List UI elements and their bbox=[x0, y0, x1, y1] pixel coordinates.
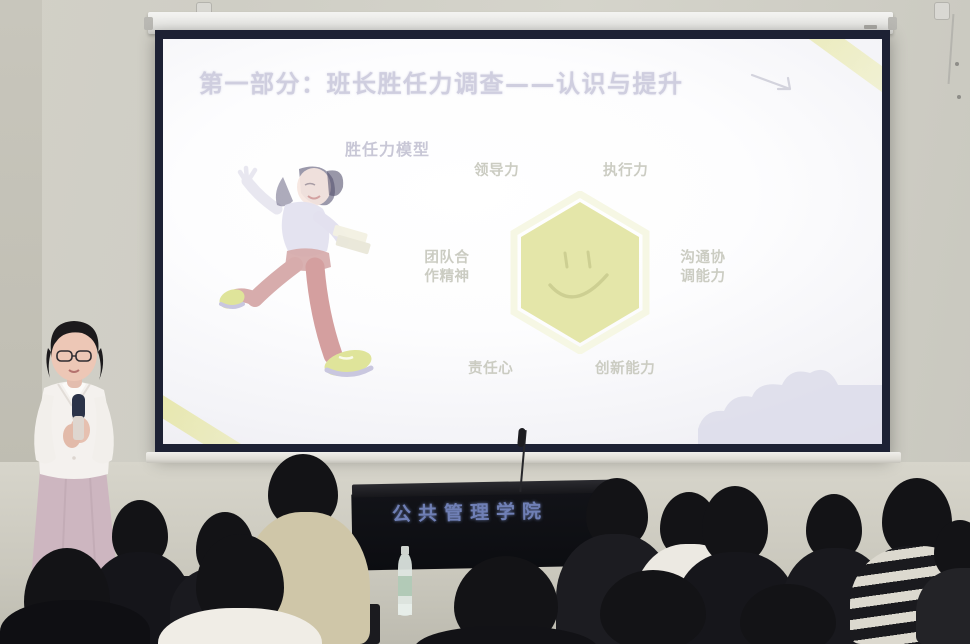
casing-knob bbox=[864, 25, 877, 29]
cloud-decoration-icon bbox=[698, 355, 882, 444]
running-student-illustration bbox=[215, 147, 380, 387]
competency-label-leadership: 领导力 bbox=[474, 162, 519, 181]
presentation-slide: 第一部分：班长胜任力调查——认识与提升 胜任力模型 bbox=[163, 39, 882, 444]
hexagon-smiley-icon bbox=[510, 191, 650, 354]
casing-endcap-left bbox=[144, 17, 153, 30]
projection-screen: 第一部分：班长胜任力调查——认识与提升 胜任力模型 bbox=[155, 30, 890, 455]
competency-label-communication: 沟通协 调能力 bbox=[664, 249, 742, 286]
lectern-sign-text: 公共管理学院 bbox=[392, 497, 549, 527]
competency-label-innovation: 创新能力 bbox=[595, 360, 655, 379]
competency-label-execution: 执行力 bbox=[603, 162, 648, 181]
lecture-hall-photo: 第一部分：班长胜任力调查——认识与提升 胜任力模型 bbox=[0, 0, 970, 644]
competency-label-responsibility: 责任心 bbox=[468, 360, 513, 379]
casing-endcap-right bbox=[888, 17, 897, 30]
arrow-icon bbox=[750, 73, 798, 95]
slide-title: 第一部分：班长胜任力调查——认识与提升 bbox=[199, 64, 684, 99]
water-bottle bbox=[394, 546, 416, 618]
cord-clip-b bbox=[957, 95, 961, 99]
cord-clip-a bbox=[955, 62, 959, 66]
competency-hexagon bbox=[510, 191, 650, 354]
screen-mount-right bbox=[934, 2, 950, 20]
stripe-decoration-top-right bbox=[720, 39, 882, 98]
competency-label-teamwork: 团队合 作精神 bbox=[408, 249, 486, 286]
